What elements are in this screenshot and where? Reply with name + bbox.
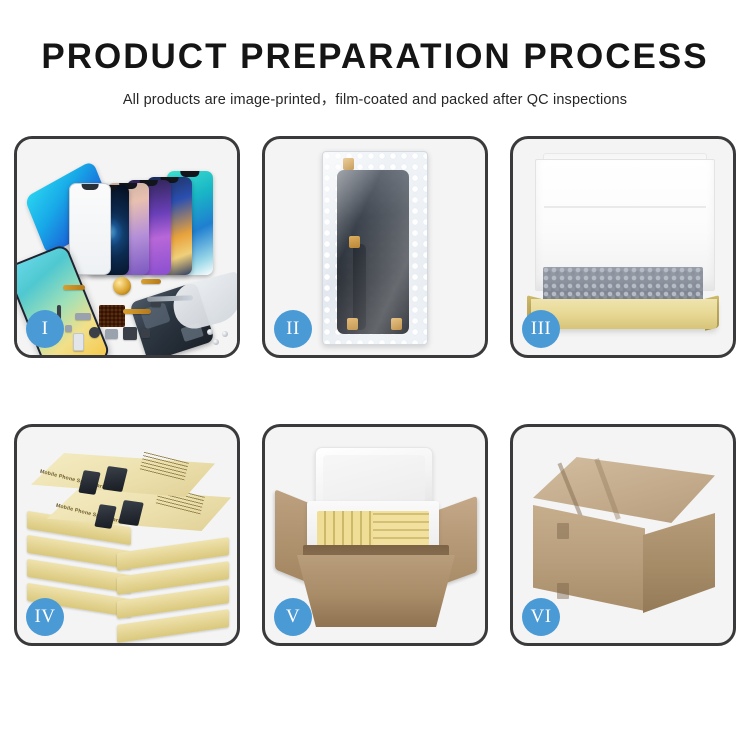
step-badge-1: I: [26, 310, 64, 348]
step-panel-2: II: [262, 136, 488, 358]
speaker-module-icon: [113, 277, 131, 295]
step-panel-4: Mobile Phone Spare Parts Mobile Phone Sp…: [14, 424, 240, 646]
carton-body: [297, 555, 455, 627]
fanned-phone-displays: [83, 157, 233, 275]
step-badge-6: VI: [522, 598, 560, 636]
step-badge-4: IV: [26, 598, 64, 636]
grey-foam-padding: [543, 267, 703, 303]
product-preparation-infographic: PRODUCT PREPARATION PROCESS All products…: [0, 0, 750, 750]
step-panel-1: I: [14, 136, 240, 358]
step-badge-5: V: [274, 598, 312, 636]
step-panel-3: III: [510, 136, 736, 358]
step-badge-3: III: [522, 310, 560, 348]
page-subtitle: All products are image-printed，film-coat…: [0, 88, 750, 109]
header: PRODUCT PREPARATION PROCESS All products…: [0, 0, 750, 109]
step-panel-6: VI: [510, 424, 736, 646]
step-badge-2: II: [274, 310, 312, 348]
mesh-chip-icon: [99, 305, 125, 327]
carton-front-face: [533, 505, 645, 611]
bubble-wrap-bag: [322, 151, 428, 345]
process-steps-grid: I II: [14, 136, 736, 646]
carton-side-face: [643, 513, 715, 613]
page-title: PRODUCT PREPARATION PROCESS: [0, 38, 750, 76]
step-panel-5: V: [262, 424, 488, 646]
